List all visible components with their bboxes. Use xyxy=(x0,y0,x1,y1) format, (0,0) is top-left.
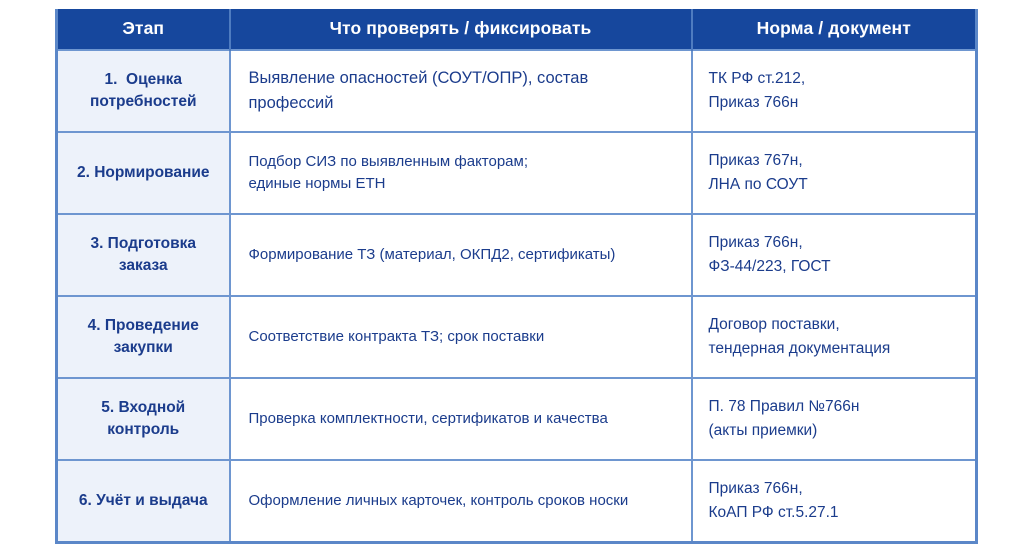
table-row: 4. Проведение закупки Соответствие контр… xyxy=(57,296,977,378)
norm-cell: Приказ 767н, ЛНА по СОУТ xyxy=(692,132,977,214)
stage-cell: 6. Учёт и выдача xyxy=(57,460,230,543)
stage-cell: 5. Входной контроль xyxy=(57,378,230,460)
check-cell: Проверка комплектности, сертификатов и к… xyxy=(230,378,692,460)
check-text-line-1: Подбор СИЗ по выявленным факторам; xyxy=(249,151,677,174)
check-text-line-1: Проверка комплектности, сертификатов и к… xyxy=(249,408,677,431)
check-text-line-2: единые нормы ЕТН xyxy=(249,173,677,196)
norm-text-line-1: Приказ 766н, xyxy=(709,231,966,255)
check-text-line-1: Выявление опасностей (СОУТ/ОПР), состав xyxy=(249,66,677,91)
norm-text-line-2: КоАП РФ ст.5.27.1 xyxy=(709,501,966,525)
norm-text-line-1: Договор поставки, xyxy=(709,313,966,337)
check-cell: Подбор СИЗ по выявленным факторам; едины… xyxy=(230,132,692,214)
table-header-row: Этап Что проверять / фиксировать Норма /… xyxy=(57,9,977,50)
table-body: 1. Оценка потребностей Выявление опаснос… xyxy=(57,50,977,543)
check-text-line-1: Соответствие контракта ТЗ; срок поставки xyxy=(249,326,677,349)
check-cell: Выявление опасностей (СОУТ/ОПР), состав … xyxy=(230,50,692,132)
stage-label-line-1: 3. Подготовка xyxy=(66,233,221,255)
column-header-stage: Этап xyxy=(57,9,230,50)
norm-text-line-1: ТК РФ ст.212, xyxy=(709,67,966,91)
table-row: 2. Нормирование Подбор СИЗ по выявленным… xyxy=(57,132,977,214)
stage-label-line-1: 6. Учёт и выдача xyxy=(66,490,221,512)
norm-cell: Приказ 766н, КоАП РФ ст.5.27.1 xyxy=(692,460,977,543)
stage-label-line-1: 1. Оценка xyxy=(66,69,221,91)
norm-cell: П. 78 Правил №766н (акты приемки) xyxy=(692,378,977,460)
stage-table: Этап Что проверять / фиксировать Норма /… xyxy=(55,9,978,544)
norm-text-line-2: тендерная документация xyxy=(709,337,966,361)
norm-cell: Приказ 766н, ФЗ-44/223, ГОСТ xyxy=(692,214,977,296)
check-text-line-1: Оформление личных карточек, контроль сро… xyxy=(249,490,677,513)
table-row: 3. Подготовка заказа Формирование ТЗ (ма… xyxy=(57,214,977,296)
check-cell: Соответствие контракта ТЗ; срок поставки xyxy=(230,296,692,378)
stage-cell: 4. Проведение закупки xyxy=(57,296,230,378)
table-row: 5. Входной контроль Проверка комплектнос… xyxy=(57,378,977,460)
table-row: 6. Учёт и выдача Оформление личных карто… xyxy=(57,460,977,543)
stage-cell: 3. Подготовка заказа xyxy=(57,214,230,296)
table-header: Этап Что проверять / фиксировать Норма /… xyxy=(57,9,977,50)
stage-label-line-1: 5. Входной xyxy=(66,397,221,419)
column-header-check: Что проверять / фиксировать xyxy=(230,9,692,50)
norm-text-line-1: Приказ 766н, xyxy=(709,477,966,501)
stage-cell: 1. Оценка потребностей xyxy=(57,50,230,132)
norm-text-line-2: (акты приемки) xyxy=(709,419,966,443)
norm-text-line-1: П. 78 Правил №766н xyxy=(709,395,966,419)
stage-label-line-1: 2. Нормирование xyxy=(66,162,221,184)
norm-text-line-2: Приказ 766н xyxy=(709,91,966,115)
stage-table-container: Этап Что проверять / фиксировать Норма /… xyxy=(55,9,975,544)
norm-text-line-1: Приказ 767н, xyxy=(709,149,966,173)
stage-label-line-2: потребностей xyxy=(66,91,221,113)
check-text-line-2: профессий xyxy=(249,91,677,116)
check-cell: Формирование ТЗ (материал, ОКПД2, сертиф… xyxy=(230,214,692,296)
norm-cell: Договор поставки, тендерная документация xyxy=(692,296,977,378)
norm-text-line-2: ФЗ-44/223, ГОСТ xyxy=(709,255,966,279)
stage-label-line-2: закупки xyxy=(66,337,221,359)
stage-label-line-2: контроль xyxy=(66,419,221,441)
check-cell: Оформление личных карточек, контроль сро… xyxy=(230,460,692,543)
check-text-line-1: Формирование ТЗ (материал, ОКПД2, сертиф… xyxy=(249,244,677,267)
table-row: 1. Оценка потребностей Выявление опаснос… xyxy=(57,50,977,132)
stage-label-line-2: заказа xyxy=(66,255,221,277)
stage-label-line-1: 4. Проведение xyxy=(66,315,221,337)
stage-cell: 2. Нормирование xyxy=(57,132,230,214)
norm-cell: ТК РФ ст.212, Приказ 766н xyxy=(692,50,977,132)
norm-text-line-2: ЛНА по СОУТ xyxy=(709,173,966,197)
column-header-norm: Норма / документ xyxy=(692,9,977,50)
